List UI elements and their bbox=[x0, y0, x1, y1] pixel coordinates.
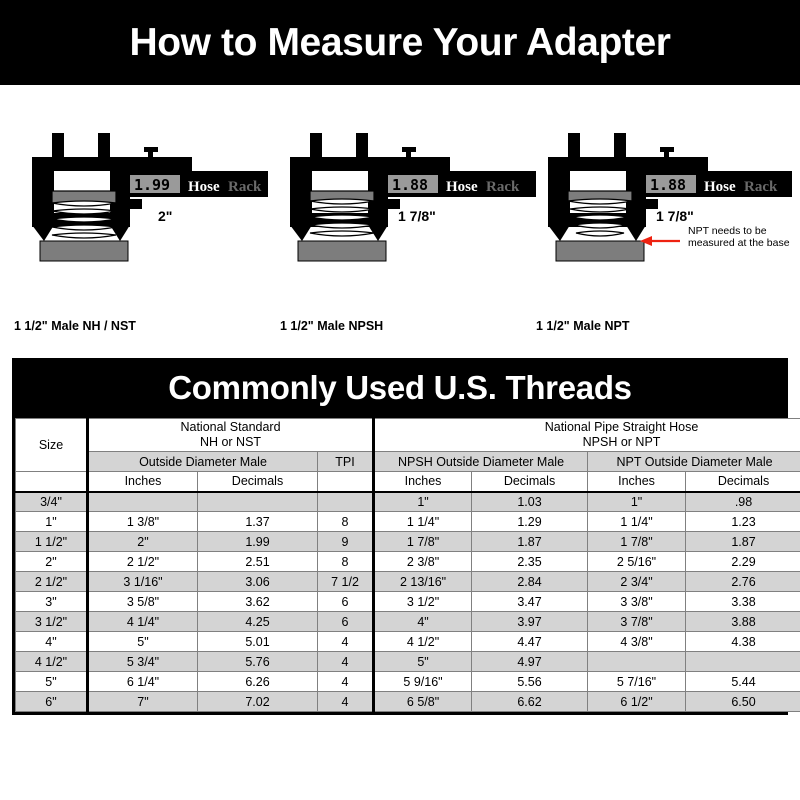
cell-size: 4 1/2" bbox=[16, 652, 88, 672]
table-row: 2 1/2"3 1/16"3.067 1/22 13/16"2.842 3/4"… bbox=[16, 572, 800, 592]
measure-label: 1 7/8" bbox=[398, 208, 436, 224]
caliper-figure-nh-nst: 1.99 Hose Rack 2" 1 1/2" Male NH / NST bbox=[6, 129, 272, 329]
figure-caption: 1 1/2" Male NPSH bbox=[280, 319, 383, 333]
cell-ns-decimals: 2.51 bbox=[198, 552, 318, 572]
table-row: 5"6 1/4"6.2645 9/16"5.565 7/16"5.448 bbox=[16, 672, 800, 692]
caliper-figure-npsh: 1.88 Hose Rack 1 7/8" 1 1/2" Male NPSH bbox=[272, 129, 538, 329]
cell-ns-decimals: 5.76 bbox=[198, 652, 318, 672]
cell-size: 3/4" bbox=[16, 492, 88, 512]
table-row: 1 1/2"2"1.9991 7/8"1.871 7/8"1.8711 1/2 bbox=[16, 532, 800, 552]
cell-npsh-inches: 1 1/4" bbox=[374, 512, 472, 532]
caliper-diagram-strip: 1.99 Hose Rack 2" 1 1/2" Male NH / NST bbox=[0, 85, 800, 350]
table-row: 6"7"7.0246 5/8"6.626 1/2"6.508 bbox=[16, 692, 800, 712]
cell-npt-inches: 4 3/8" bbox=[588, 632, 686, 652]
caliper-illustration: 1.88 Hose Rack 1 7/8" bbox=[272, 129, 538, 329]
cell-npt-decimals bbox=[686, 652, 800, 672]
cell-ns-tpi: 4 bbox=[318, 652, 374, 672]
cell-size: 6" bbox=[16, 692, 88, 712]
cell-npt-inches: 5 7/16" bbox=[588, 672, 686, 692]
header-ns-inches: Inches bbox=[88, 472, 198, 492]
header-npt-outside-diameter: NPT Outside Diameter Male bbox=[588, 452, 800, 472]
cell-ns-decimals: 5.01 bbox=[198, 632, 318, 652]
cell-npsh-decimals: 2.35 bbox=[472, 552, 588, 572]
brand-rack-text: Rack bbox=[228, 179, 262, 195]
cell-npsh-decimals: 1.87 bbox=[472, 532, 588, 552]
threads-table: Size National Standard NH or NST Nationa… bbox=[15, 418, 800, 712]
cell-size: 3" bbox=[16, 592, 88, 612]
cell-npt-inches: 1 1/4" bbox=[588, 512, 686, 532]
cell-npsh-inches: 4 1/2" bbox=[374, 632, 472, 652]
table-row: 1"1 3/8"1.3781 1/4"1.291 1/4"1.2311 1/2 bbox=[16, 512, 800, 532]
cell-npt-inches: 2 3/4" bbox=[588, 572, 686, 592]
brand-rack-text: Rack bbox=[744, 179, 778, 195]
cell-ns-inches: 7" bbox=[88, 692, 198, 712]
cell-ns-inches bbox=[88, 492, 198, 512]
cell-ns-tpi: 6 bbox=[318, 612, 374, 632]
cell-ns-inches: 3 1/16" bbox=[88, 572, 198, 592]
cell-size: 2 1/2" bbox=[16, 572, 88, 592]
table-row: 3 1/2"4 1/4"4.2564"3.973 7/8"3.888 bbox=[16, 612, 800, 632]
cell-ns-inches: 5 3/4" bbox=[88, 652, 198, 672]
cell-ns-tpi: 9 bbox=[318, 532, 374, 552]
cell-ns-inches: 2 1/2" bbox=[88, 552, 198, 572]
cell-size: 3 1/2" bbox=[16, 612, 88, 632]
group-line2: NH or NST bbox=[200, 435, 261, 449]
group-line1: National Standard bbox=[180, 420, 280, 434]
header-npt-inches: Inches bbox=[588, 472, 686, 492]
header-group-national-pipe-straight-hose: National Pipe Straight Hose NPSH or NPT bbox=[374, 419, 800, 452]
group-line2: NPSH or NPT bbox=[583, 435, 661, 449]
cell-ns-tpi: 7 1/2 bbox=[318, 572, 374, 592]
brand-hose-text: Hose bbox=[446, 179, 478, 195]
caliper-lcd-reading: 1.88 bbox=[650, 176, 686, 194]
cell-ns-decimals: 6.26 bbox=[198, 672, 318, 692]
cell-npt-decimals: 1.87 bbox=[686, 532, 800, 552]
cell-npt-decimals: .98 bbox=[686, 492, 800, 512]
cell-npt-inches: 1 7/8" bbox=[588, 532, 686, 552]
cell-npsh-decimals: 1.03 bbox=[472, 492, 588, 512]
cell-npsh-inches: 4" bbox=[374, 612, 472, 632]
cell-npt-decimals: 2.76 bbox=[686, 572, 800, 592]
cell-size: 1 1/2" bbox=[16, 532, 88, 552]
cell-npt-decimals: 4.38 bbox=[686, 632, 800, 652]
cell-ns-inches: 3 5/8" bbox=[88, 592, 198, 612]
measure-label: 2" bbox=[158, 208, 172, 224]
header-group-national-standard: National Standard NH or NST bbox=[88, 419, 374, 452]
cell-ns-tpi: 4 bbox=[318, 632, 374, 652]
page-title: How to Measure Your Adapter bbox=[129, 21, 670, 65]
cell-ns-tpi: 6 bbox=[318, 592, 374, 612]
header-npsh-inches: Inches bbox=[374, 472, 472, 492]
figure-caption: 1 1/2" Male NPT bbox=[536, 319, 629, 333]
cell-ns-tpi: 8 bbox=[318, 552, 374, 572]
cell-ns-inches: 6 1/4" bbox=[88, 672, 198, 692]
cell-ns-decimals: 7.02 bbox=[198, 692, 318, 712]
brand-hose-text: Hose bbox=[188, 179, 220, 195]
cell-npsh-inches: 1 7/8" bbox=[374, 532, 472, 552]
cell-npsh-decimals: 4.97 bbox=[472, 652, 588, 672]
cell-ns-tpi: 4 bbox=[318, 692, 374, 712]
header-npsh-outside-diameter: NPSH Outside Diameter Male bbox=[374, 452, 588, 472]
cell-npt-inches: 6 1/2" bbox=[588, 692, 686, 712]
cell-npt-decimals: 1.23 bbox=[686, 512, 800, 532]
cell-npsh-decimals: 6.62 bbox=[472, 692, 588, 712]
cell-npsh-inches: 3 1/2" bbox=[374, 592, 472, 612]
cell-npt-inches: 3 3/8" bbox=[588, 592, 686, 612]
cell-npsh-inches: 5 9/16" bbox=[374, 672, 472, 692]
cell-ns-inches: 1 3/8" bbox=[88, 512, 198, 532]
table-row: 3/4"1"1.031".9814 bbox=[16, 492, 800, 512]
cell-npt-decimals: 6.50 bbox=[686, 692, 800, 712]
cell-ns-decimals bbox=[198, 492, 318, 512]
cell-npsh-decimals: 3.47 bbox=[472, 592, 588, 612]
cell-ns-inches: 5" bbox=[88, 632, 198, 652]
table-title: Commonly Used U.S. Threads bbox=[15, 361, 785, 418]
table-row: 4 1/2"5 3/4"5.7645"4.978 bbox=[16, 652, 800, 672]
threads-table-block: Commonly Used U.S. Threads Size National… bbox=[12, 358, 788, 715]
table-row: 3"3 5/8"3.6263 1/2"3.473 3/8"3.388 bbox=[16, 592, 800, 612]
cell-npsh-inches: 5" bbox=[374, 652, 472, 672]
header-ns-tpi: TPI bbox=[318, 452, 374, 472]
cell-ns-tpi: 8 bbox=[318, 512, 374, 532]
cell-size: 2" bbox=[16, 552, 88, 572]
cell-ns-decimals: 4.25 bbox=[198, 612, 318, 632]
cell-ns-inches: 2" bbox=[88, 532, 198, 552]
brand-rack-text: Rack bbox=[486, 179, 520, 195]
cell-npsh-decimals: 4.47 bbox=[472, 632, 588, 652]
cell-size: 4" bbox=[16, 632, 88, 652]
header-npsh-decimals: Decimals bbox=[472, 472, 588, 492]
caliper-lcd-reading: 1.88 bbox=[392, 176, 428, 194]
header-size-unit-blank bbox=[16, 472, 88, 492]
cell-ns-decimals: 3.62 bbox=[198, 592, 318, 612]
cell-npsh-inches: 2 3/8" bbox=[374, 552, 472, 572]
cell-npt-inches bbox=[588, 652, 686, 672]
caliper-lcd-reading: 1.99 bbox=[134, 176, 170, 194]
table-row: 4"5"5.0144 1/2"4.474 3/8"4.388 bbox=[16, 632, 800, 652]
header-ns-tpi-unit-blank bbox=[318, 472, 374, 492]
cell-npt-inches: 2 5/16" bbox=[588, 552, 686, 572]
header-ns-outside-diameter: Outside Diameter Male bbox=[88, 452, 318, 472]
cell-ns-tpi bbox=[318, 492, 374, 512]
cell-npsh-inches: 6 5/8" bbox=[374, 692, 472, 712]
cell-npsh-decimals: 3.97 bbox=[472, 612, 588, 632]
cell-ns-tpi: 4 bbox=[318, 672, 374, 692]
cell-npsh-decimals: 5.56 bbox=[472, 672, 588, 692]
cell-npt-decimals: 3.38 bbox=[686, 592, 800, 612]
npt-note-line1: NPT needs to be bbox=[688, 225, 767, 237]
cell-ns-decimals: 1.99 bbox=[198, 532, 318, 552]
header-ns-decimals: Decimals bbox=[198, 472, 318, 492]
cell-npt-decimals: 2.29 bbox=[686, 552, 800, 572]
page-header-bar: How to Measure Your Adapter bbox=[0, 0, 800, 85]
cell-npt-decimals: 5.44 bbox=[686, 672, 800, 692]
threads-table-body: 3/4"1"1.031".98141"1 3/8"1.3781 1/4"1.29… bbox=[16, 492, 800, 712]
cell-ns-inches: 4 1/4" bbox=[88, 612, 198, 632]
caliper-illustration: 1.99 Hose Rack 2" bbox=[6, 129, 272, 329]
measure-label: 1 7/8" bbox=[656, 208, 694, 224]
group-line1: National Pipe Straight Hose bbox=[545, 420, 699, 434]
cell-ns-decimals: 1.37 bbox=[198, 512, 318, 532]
npt-note-line2: measured at the base bbox=[688, 237, 790, 249]
table-row: 2"2 1/2"2.5182 3/8"2.352 5/16"2.2911 1/2 bbox=[16, 552, 800, 572]
cell-npt-inches: 1" bbox=[588, 492, 686, 512]
cell-npt-decimals: 3.88 bbox=[686, 612, 800, 632]
brand-hose-text: Hose bbox=[704, 179, 736, 195]
cell-size: 5" bbox=[16, 672, 88, 692]
cell-npsh-decimals: 1.29 bbox=[472, 512, 588, 532]
cell-npsh-inches: 1" bbox=[374, 492, 472, 512]
figure-caption: 1 1/2" Male NH / NST bbox=[14, 319, 136, 333]
cell-npsh-decimals: 2.84 bbox=[472, 572, 588, 592]
cell-npsh-inches: 2 13/16" bbox=[374, 572, 472, 592]
header-npt-decimals: Decimals bbox=[686, 472, 800, 492]
cell-ns-decimals: 3.06 bbox=[198, 572, 318, 592]
cell-size: 1" bbox=[16, 512, 88, 532]
npt-base-arrow-icon bbox=[640, 236, 680, 246]
cell-npt-inches: 3 7/8" bbox=[588, 612, 686, 632]
header-size: Size bbox=[16, 419, 88, 472]
